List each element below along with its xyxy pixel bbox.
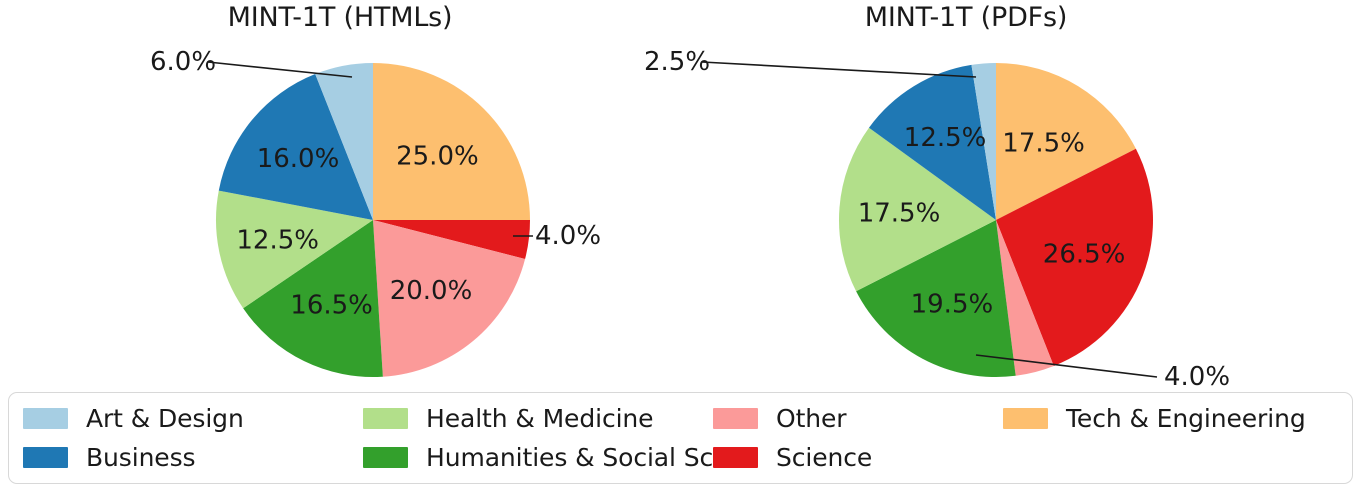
legend-item[interactable]: Business <box>23 440 363 476</box>
slice-value-label: 26.5% <box>1043 239 1126 269</box>
legend-label: Tech & Engineering <box>1066 404 1306 433</box>
pie-svg-htmls: 25.0%20.0%16.5%12.5%16.0%4.0%6.0% <box>0 0 684 386</box>
slice-value-label: 12.5% <box>236 226 319 256</box>
legend-label: Business <box>86 443 195 472</box>
pie-chart-htmls: MINT-1T (HTMLs) 25.0%20.0%16.5%12.5%16.0… <box>0 0 684 386</box>
slice-callout-label: 4.0% <box>535 221 601 251</box>
slice-value-label: 12.5% <box>904 123 987 153</box>
legend-swatch <box>23 408 68 429</box>
slice-callout-label: 2.5% <box>644 47 710 77</box>
pie-svg-pdfs: 17.5%26.5%19.5%17.5%12.5%4.0%2.5% <box>624 0 1308 386</box>
callout-leader-line <box>702 62 976 77</box>
legend: Art & DesignBusinessHealth & MedicineHum… <box>8 392 1353 484</box>
legend-swatch <box>713 408 758 429</box>
charts-row: MINT-1T (HTMLs) 25.0%20.0%16.5%12.5%16.0… <box>0 0 1369 386</box>
legend-item[interactable]: Art & Design <box>23 401 363 437</box>
legend-swatch <box>363 447 408 468</box>
slice-value-label: 16.0% <box>257 144 340 174</box>
legend-swatch <box>363 408 408 429</box>
legend-label: Health & Medicine <box>426 404 653 433</box>
legend-item[interactable]: Health & Medicine <box>363 401 713 437</box>
slice-value-label: 25.0% <box>396 142 479 172</box>
legend-swatch <box>713 447 758 468</box>
slice-value-label: 16.5% <box>290 291 373 321</box>
slice-value-label: 17.5% <box>1002 128 1085 158</box>
legend-label: Art & Design <box>86 404 244 433</box>
pie-chart-pdfs: MINT-1T (PDFs) 17.5%26.5%19.5%17.5%12.5%… <box>624 0 1308 386</box>
slice-callout-label: 4.0% <box>1164 362 1230 392</box>
legend-item[interactable]: Science <box>713 440 1003 476</box>
legend-item[interactable]: Humanities & Social Sci. <box>363 440 713 476</box>
legend-label: Humanities & Social Sci. <box>426 443 728 472</box>
slice-value-label: 19.5% <box>911 289 994 319</box>
slice-callout-label: 6.0% <box>150 47 216 77</box>
legend-swatch <box>23 447 68 468</box>
slice-value-label: 20.0% <box>390 276 473 306</box>
legend-label: Science <box>776 443 872 472</box>
legend-item[interactable]: Other <box>713 401 1003 437</box>
legend-item[interactable]: Tech & Engineering <box>1003 401 1363 437</box>
legend-swatch <box>1003 408 1048 429</box>
legend-label: Other <box>776 404 846 433</box>
slice-value-label: 17.5% <box>858 198 941 228</box>
